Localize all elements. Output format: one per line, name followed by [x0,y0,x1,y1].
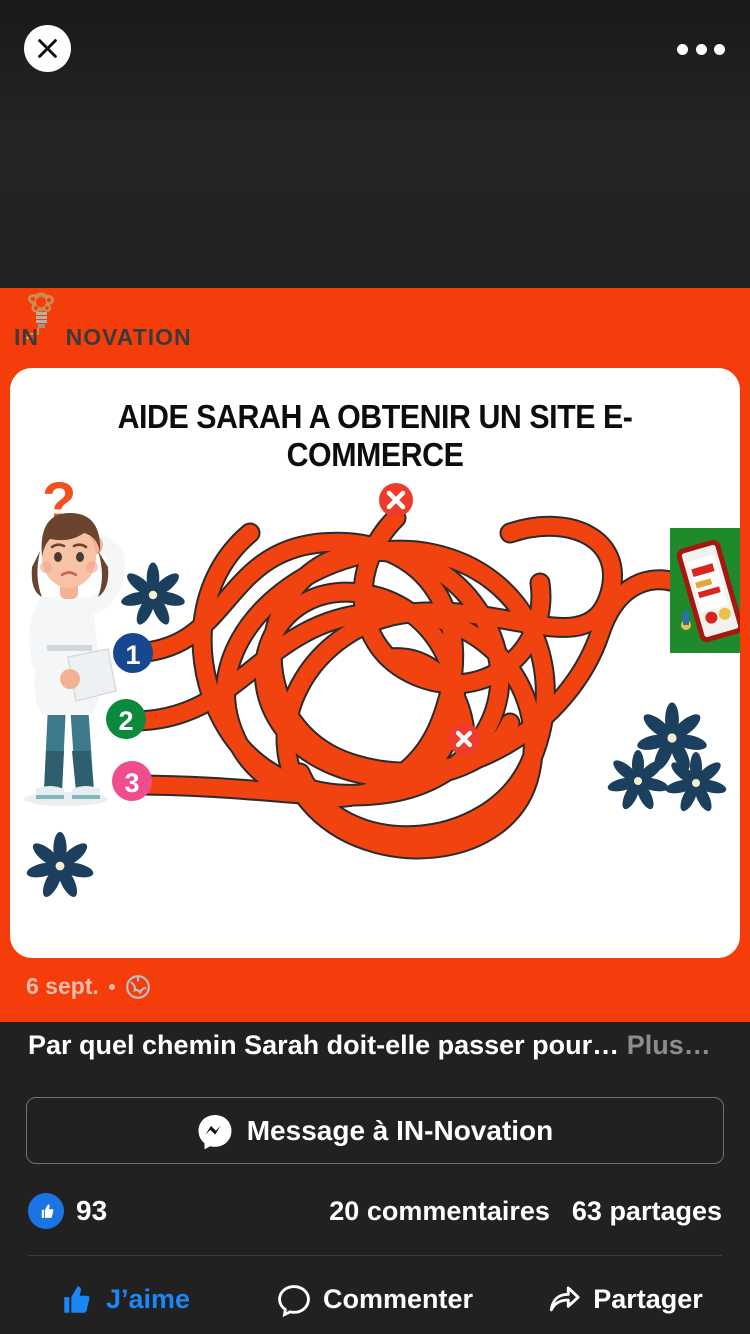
comment-button[interactable]: Commenter [250,1283,500,1317]
message-page-label: Message à IN-Novation [247,1115,554,1147]
brand-logo: IN-NOVATION [14,288,194,366]
share-button[interactable]: Partager [500,1283,750,1317]
close-icon [37,38,58,59]
share-button-label: Partager [593,1284,703,1315]
post-meta: 6 sept. [26,973,151,1000]
comment-bubble-icon [277,1283,311,1317]
page-name[interactable]: IN-Novation [26,928,191,962]
more-dot [677,44,688,55]
close-button[interactable] [24,25,71,72]
action-bar: J’aime Commenter Partager [0,1265,750,1334]
stats-right-group: 20 commentaires 63 partages [329,1196,722,1227]
post-caption[interactable]: Par quel chemin Sarah doit-elle passer p… [28,1030,728,1061]
confused-woman-illustration: ? [24,473,116,806]
thumbs-up-icon [28,1193,64,1229]
maze-paths [130,518,670,849]
destination-photo [670,528,740,653]
svg-text:2: 2 [118,706,133,736]
meta-separator-dot [109,984,115,990]
story-post-screen: IN-NOVATION AIDE SARAH A OBTENIR UN SITE… [0,0,750,1334]
start-marker-2: 2 [106,699,146,739]
post-stats: 93 20 commentaires 63 partages [28,1188,722,1234]
start-marker-3: 3 [112,761,152,801]
svg-text:3: 3 [124,768,139,798]
svg-text:1: 1 [125,640,140,670]
caption-text: Par quel chemin Sarah doit-elle passer p… [28,1030,619,1060]
maze-svg: ? [10,473,740,958]
message-page-button[interactable]: Message à IN-Novation [26,1097,724,1164]
share-arrow-icon [547,1283,581,1317]
messenger-icon [197,1113,233,1149]
puzzle-title: AIDE SARAH A OBTENIR UN SITE E-COMMERCE [39,398,711,474]
like-button-label: J’aime [106,1284,190,1315]
share-count[interactable]: 63 partages [572,1196,722,1227]
post-date: 6 sept. [26,973,99,1000]
see-more-link[interactable]: Plus… [627,1030,711,1060]
post-media[interactable]: IN-NOVATION AIDE SARAH A OBTENIR UN SITE… [0,288,750,1022]
comment-count[interactable]: 20 commentaires [329,1196,550,1227]
like-button[interactable]: J’aime [0,1283,250,1317]
stats-divider [28,1255,722,1256]
like-count: 93 [76,1195,107,1227]
brand-suffix: NOVATION [66,324,192,350]
brand-prefix: IN [14,324,39,350]
dead-end-marker [379,483,413,517]
brand-wordmark: IN-NOVATION [14,324,192,351]
puzzle-card: AIDE SARAH A OBTENIR UN SITE E-COMMERCE … [10,368,740,958]
top-bar [0,0,750,288]
reaction-summary[interactable]: 93 [28,1193,107,1229]
start-marker-1: 1 [113,633,153,673]
more-dot [696,44,707,55]
thumbs-up-icon [60,1283,94,1317]
more-options-button[interactable] [674,36,728,62]
globe-public-icon [125,974,151,1000]
dead-end-marker [448,723,480,755]
maze-illustration: ? [10,473,740,958]
more-dot [714,44,725,55]
comment-button-label: Commenter [323,1284,473,1315]
